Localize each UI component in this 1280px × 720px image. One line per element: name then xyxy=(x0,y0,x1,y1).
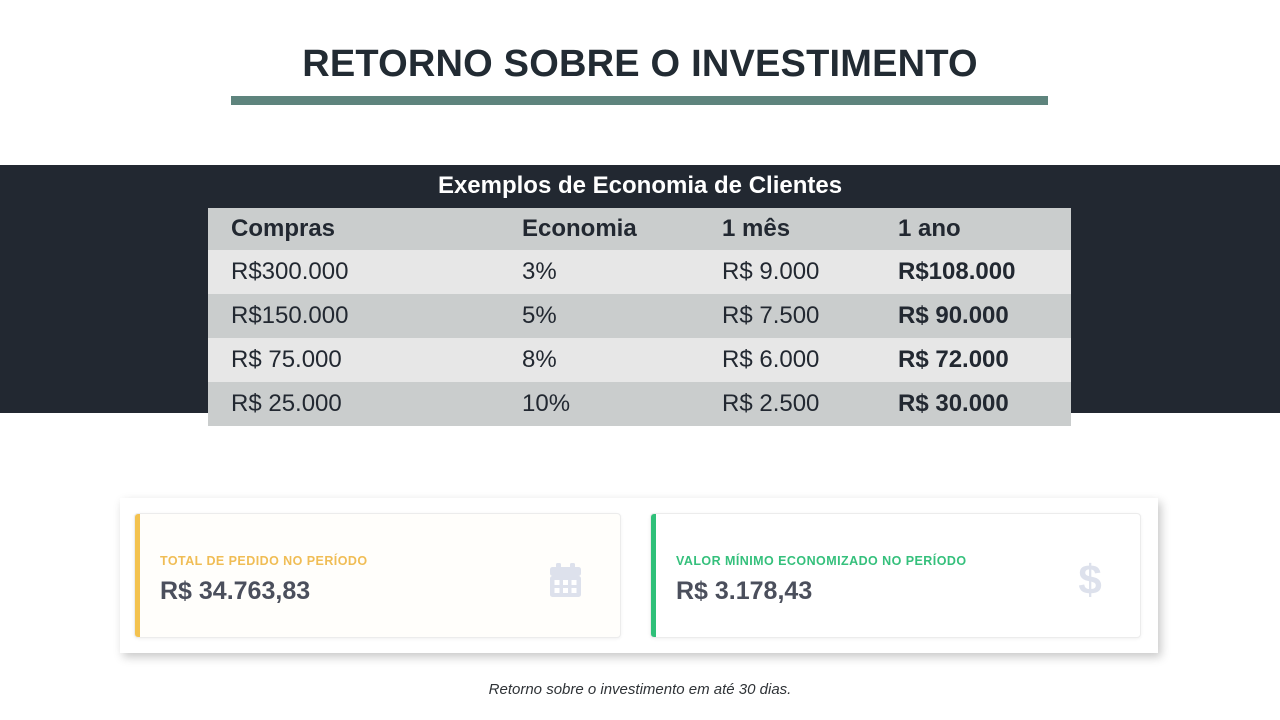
table-header-row: Compras Economia 1 mês 1 ano xyxy=(208,208,1071,250)
cell-compras: R$150.000 xyxy=(208,294,499,338)
cell-compras: R$ 25.000 xyxy=(208,382,499,426)
table-section-heading: Exemplos de Economia de Clientes xyxy=(0,172,1280,200)
cell-1-ano: R$ 30.000 xyxy=(875,382,1071,426)
table-row: R$300.000 3% R$ 9.000 R$108.000 xyxy=(208,250,1071,294)
kpi-card-total-pedido: TOTAL DE PEDIDO NO PERÍODO R$ 34.763,83 xyxy=(134,513,621,638)
page-title: RETORNO SOBRE O INVESTIMENTO xyxy=(0,42,1280,86)
svg-text:$: $ xyxy=(1078,556,1101,603)
cell-1-mes: R$ 7.500 xyxy=(699,294,875,338)
dollar-icon: $ xyxy=(1068,556,1112,600)
kpi-label-valor-economizado: VALOR MÍNIMO ECONOMIZADO NO PERÍODO xyxy=(676,554,967,568)
column-header-1-ano: 1 ano xyxy=(875,208,1071,250)
page-title-text: RETORNO SOBRE O INVESTIMENTO xyxy=(0,42,1280,86)
footer-caption: Retorno sobre o investimento em até 30 d… xyxy=(0,680,1280,700)
cell-1-ano: R$108.000 xyxy=(875,250,1071,294)
kpi-cards-panel: TOTAL DE PEDIDO NO PERÍODO R$ 34.763,83 … xyxy=(120,498,1158,653)
cell-economia: 3% xyxy=(499,250,699,294)
cell-1-ano: R$ 72.000 xyxy=(875,338,1071,382)
cell-compras: R$ 75.000 xyxy=(208,338,499,382)
title-underline-rule xyxy=(231,96,1048,105)
cell-compras: R$300.000 xyxy=(208,250,499,294)
column-header-economia: Economia xyxy=(499,208,699,250)
table-row: R$150.000 5% R$ 7.500 R$ 90.000 xyxy=(208,294,1071,338)
calendar-icon xyxy=(546,559,590,603)
card-accent-bar xyxy=(135,514,140,637)
card-accent-bar xyxy=(651,514,656,637)
cell-economia: 5% xyxy=(499,294,699,338)
kpi-card-valor-economizado: VALOR MÍNIMO ECONOMIZADO NO PERÍODO R$ 3… xyxy=(650,513,1141,638)
kpi-value-valor-economizado: R$ 3.178,43 xyxy=(676,576,812,606)
column-header-compras: Compras xyxy=(208,208,499,250)
cell-1-mes: R$ 9.000 xyxy=(699,250,875,294)
cell-economia: 10% xyxy=(499,382,699,426)
cell-1-ano: R$ 90.000 xyxy=(875,294,1071,338)
cell-1-mes: R$ 6.000 xyxy=(699,338,875,382)
table-row: R$ 25.000 10% R$ 2.500 R$ 30.000 xyxy=(208,382,1071,426)
savings-examples-table: Compras Economia 1 mês 1 ano R$300.000 3… xyxy=(208,208,1071,426)
kpi-label-total-pedido: TOTAL DE PEDIDO NO PERÍODO xyxy=(160,554,368,568)
table-row: R$ 75.000 8% R$ 6.000 R$ 72.000 xyxy=(208,338,1071,382)
cell-1-mes: R$ 2.500 xyxy=(699,382,875,426)
column-header-1-mes: 1 mês xyxy=(699,208,875,250)
cell-economia: 8% xyxy=(499,338,699,382)
kpi-value-total-pedido: R$ 34.763,83 xyxy=(160,576,310,606)
